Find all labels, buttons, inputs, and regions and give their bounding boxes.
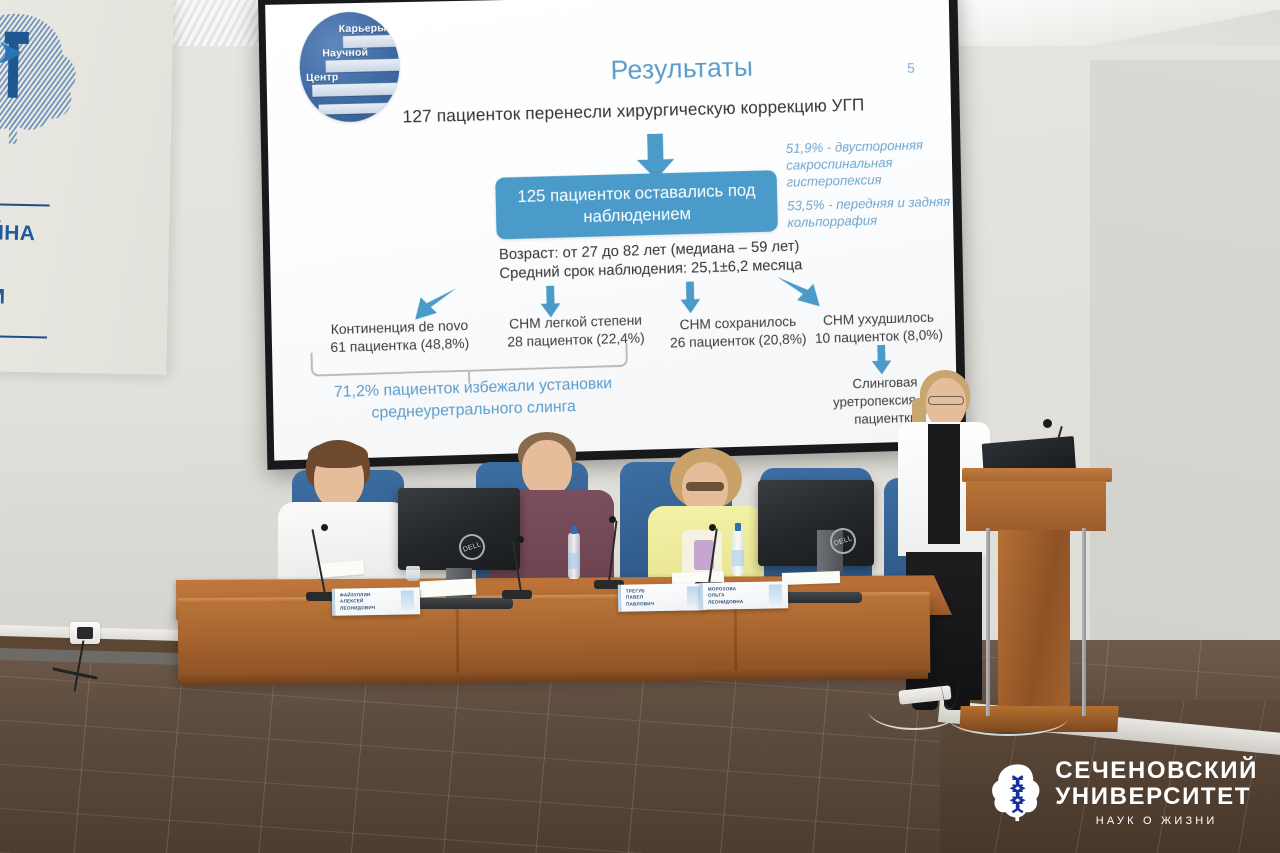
monitor-1[interactable] (398, 488, 520, 570)
conference-room-photo: …ОВСКИЙ …РСИТЕТ …ЖИЗНИ …МОДИЗАЙНА …РОВАН… (0, 0, 1280, 853)
outcome-4: СНМ ухудшилось 10 пациенток (8,0%) (805, 307, 952, 347)
outcome-arrow-3-icon (679, 281, 701, 313)
paper-sheet-1 (420, 579, 477, 598)
logo-line-bottom: Центр (306, 71, 339, 84)
surgery-note-2: 53,5% - передняя и задняя кольпоррафия (787, 193, 958, 232)
monitor-2[interactable] (758, 480, 874, 566)
logo-line-top: Карьеры (339, 22, 387, 35)
slide-conclusion: 71,2% пациенток избежали установки средн… (309, 372, 637, 426)
slide-page-number: 5 (907, 60, 915, 76)
nameplate-3: МОРОЗОВА ОЛЬГА ЛЕОНИДОВНА (700, 581, 788, 610)
main-result-box: 125 пациенток оставались под наблюдением (495, 170, 778, 239)
left-roll-up-banner: …ОВСКИЙ …РСИТЕТ …ЖИЗНИ …МОДИЗАЙНА …РОВАН… (0, 0, 174, 375)
slide-lead-text: 127 пациенток перенесли хирургическую ко… (402, 92, 957, 127)
banner-org-name: …ОВСКИЙ …РСИТЕТ (0, 119, 171, 167)
water-bottle-1[interactable] (568, 533, 580, 579)
drinking-glass[interactable] (406, 566, 420, 581)
banner-title-line3: …Х СИСТЕМ (0, 279, 164, 317)
scientific-career-center-logo-icon: Карьеры Научной Центр (298, 11, 400, 123)
surgery-note-1: 51,9% - двусторонняя сакроспинальная гис… (786, 137, 924, 189)
banner-title: …МОДИЗАЙНА …РОВАНИЯ …Х СИСТЕМ (0, 215, 165, 317)
banner-divider-bottom (0, 333, 47, 338)
outcome-3: СНМ сохранилось 26 пациенток (20,8%) (660, 311, 816, 351)
slide-title: Результаты (564, 51, 800, 88)
sechenov-tree-dna-icon (990, 753, 1045, 831)
nameplate-2-line3: ПАВЛОВИЧ (626, 600, 702, 608)
banner-org-line2: …РСИТЕТ (0, 140, 171, 166)
nameplate-1-line3: ЛЕОНИДОВИЧ (340, 604, 416, 612)
presentation-slide: Карьеры Научной Центр Результаты 5 127 п… (265, 0, 957, 461)
nameplate-1: ФАЙЗУЛЛИН АЛЕКСЕЙ ЛЕОНИДОВИЧ (332, 587, 420, 616)
outcome-arrow-4-icon (775, 274, 823, 311)
banner-org-line1: …ОВСКИЙ (0, 119, 171, 145)
glasses-icon (928, 396, 964, 405)
projection-screen: Карьеры Научной Центр Результаты 5 127 п… (265, 0, 957, 461)
right-wall (1090, 60, 1280, 720)
logo-line-mid: Научной (322, 47, 368, 60)
paper-sheet-4 (782, 571, 840, 585)
panelist-1 (272, 440, 412, 600)
floor-cable-1 (948, 700, 1068, 736)
outcome-4-value: 10 пациенток (8,0%) (806, 325, 952, 347)
power-outlet[interactable] (70, 622, 100, 644)
age-stats: Возраст: от 27 до 82 лет (медиана – 59 л… (499, 234, 912, 284)
banner-title-line1: …МОДИЗАЙНА (0, 215, 165, 253)
sunglasses-icon (686, 482, 724, 491)
projection-screen-frame: Карьеры Научной Центр Результаты 5 127 п… (258, 0, 966, 470)
watermark-line1: СЕЧЕНОВСКИЙ (1055, 758, 1258, 784)
monitor-1-base (405, 598, 513, 609)
podium-cable (938, 560, 962, 710)
sling-arrow-icon (870, 345, 892, 375)
banner-divider-top (0, 201, 50, 206)
surgery-type-notes: 51,9% - двусторонняя сакроспинальная гис… (786, 135, 958, 231)
watermark-tagline: НАУК О ЖИЗНИ (1055, 815, 1258, 827)
nameplate-2: ТРЕГУБ ПАВЕЛ ПАВЛОВИЧ (618, 583, 706, 612)
panel-desk-front (178, 595, 931, 680)
water-bottle-2[interactable] (732, 530, 744, 576)
watermark-line2: УНИВЕРСИТЕТ (1055, 784, 1258, 810)
banner-title-line2: …РОВАНИЯ (0, 247, 165, 285)
speaker-inner-top (928, 424, 960, 544)
nameplate-3-line3: ЛЕОНИДОВНА (708, 598, 784, 606)
outcome-3-value: 26 пациенток (20,8%) (661, 329, 816, 352)
sechenov-watermark: СЕЧЕНОВСКИЙ УНИВЕРСИТЕТ НАУК О ЖИЗНИ (990, 751, 1258, 833)
watermark-text: СЕЧЕНОВСКИЙ УНИВЕРСИТЕТ НАУК О ЖИЗНИ (1055, 758, 1258, 827)
